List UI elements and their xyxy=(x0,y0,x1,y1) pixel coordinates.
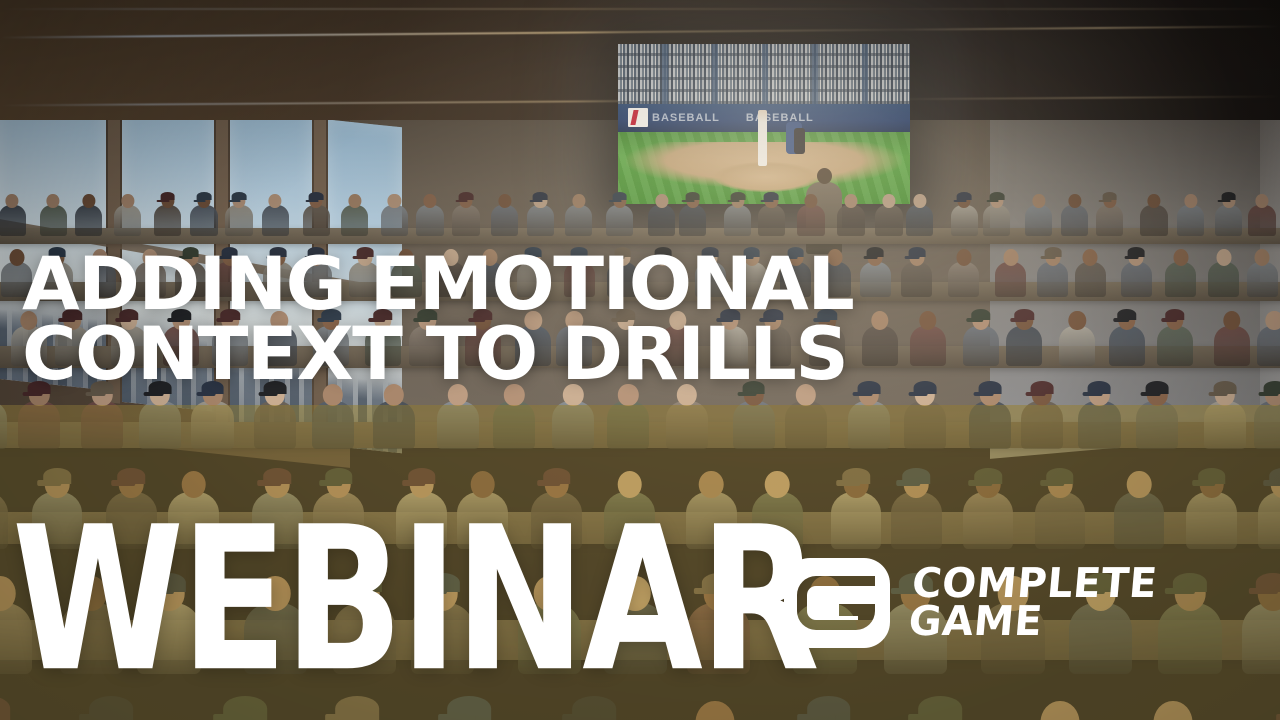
audience-member-head xyxy=(1068,194,1081,209)
baseball-cap xyxy=(612,192,627,200)
audience-member xyxy=(904,401,946,449)
baseball-cap xyxy=(118,468,146,484)
audience-member-head xyxy=(1184,194,1197,209)
baseball-cap xyxy=(264,468,292,484)
audience-member-head xyxy=(388,194,401,209)
audience-member-head xyxy=(1173,249,1188,266)
audience-member xyxy=(416,205,443,236)
audience-member xyxy=(1035,492,1086,549)
audience-member xyxy=(1025,205,1052,236)
audience-member xyxy=(114,205,141,236)
audience-member-head xyxy=(1069,311,1086,330)
audience-member xyxy=(1214,326,1250,367)
audience-member xyxy=(552,401,594,449)
baseball-cap xyxy=(842,468,870,484)
audience-member xyxy=(969,401,1011,449)
audience-member-head xyxy=(269,194,282,209)
audience-member-head xyxy=(82,194,95,209)
baseball-cap xyxy=(459,192,474,200)
headline-line-2: CONTEXT TO DRILLS xyxy=(22,320,1001,390)
audience-member xyxy=(303,205,330,236)
audience-member-head xyxy=(1032,194,1045,209)
audience-member xyxy=(225,205,252,236)
audience-member xyxy=(606,205,633,236)
audience-member xyxy=(1037,262,1068,297)
audience-member xyxy=(312,401,354,449)
baseball-cap xyxy=(730,192,745,200)
baseball-cap xyxy=(1128,247,1145,257)
audience-member xyxy=(381,205,408,236)
baseball-cap xyxy=(1213,381,1236,394)
audience-member-head xyxy=(845,194,858,209)
audience-member-head xyxy=(1216,249,1231,266)
audience-member xyxy=(190,205,217,236)
baseball-cap xyxy=(533,192,548,200)
baseball-cap xyxy=(764,192,779,200)
audience-member xyxy=(0,492,8,549)
audience-member xyxy=(1096,205,1123,236)
baseball-cap xyxy=(685,192,700,200)
audience-member xyxy=(875,205,902,236)
audience-member-head xyxy=(348,194,361,209)
audience-member xyxy=(0,205,26,236)
broadcast-crowd-aisles xyxy=(618,44,910,106)
baseball-cap xyxy=(543,468,571,484)
audience-member xyxy=(0,401,7,449)
audience-member xyxy=(1136,401,1178,449)
audience-member xyxy=(1158,603,1221,674)
audience-member xyxy=(1061,205,1088,236)
audience-member xyxy=(493,401,535,449)
brand-name: COMPLETE GAME xyxy=(907,565,1159,640)
audience-member xyxy=(648,205,675,236)
audience-member-head xyxy=(498,194,511,209)
audience-member xyxy=(1242,603,1280,674)
baseball-cap xyxy=(0,696,10,720)
baseball-cap xyxy=(957,192,972,200)
baseball-cap xyxy=(408,468,436,484)
audience-member xyxy=(40,205,67,236)
audience-member-head xyxy=(1041,701,1080,720)
baseball-cap xyxy=(1117,309,1136,320)
audience-member xyxy=(837,205,864,236)
audience-member xyxy=(1204,401,1246,449)
audience-member xyxy=(963,492,1014,549)
audience-member xyxy=(1208,262,1239,297)
audience-member xyxy=(724,205,751,236)
audience-member-head xyxy=(1255,249,1270,266)
baseball-cap xyxy=(902,468,930,484)
baseball-cap xyxy=(1221,192,1236,200)
audience-member xyxy=(666,401,708,449)
ceiling-light-strip xyxy=(0,8,1280,10)
audience-member xyxy=(831,492,882,549)
audience-member-head xyxy=(1003,249,1018,266)
audience-member-head xyxy=(121,194,134,209)
baseball-cap xyxy=(1165,309,1184,320)
audience-member xyxy=(154,205,181,236)
baseball-cap xyxy=(325,468,353,484)
page-title: ADDING EMOTIONAL CONTEXT TO DRILLS xyxy=(22,250,982,390)
audience-member xyxy=(848,401,890,449)
audience-member xyxy=(373,401,415,449)
audience-member xyxy=(437,401,479,449)
audience-member xyxy=(891,492,942,549)
audience-member xyxy=(254,401,296,449)
audience-member xyxy=(81,401,123,449)
audience-member xyxy=(75,205,102,236)
audience-member xyxy=(452,205,479,236)
wall-signage-right: BASEBALL xyxy=(746,112,814,124)
wall-signage-left: BASEBALL xyxy=(652,112,720,124)
baseball-cap xyxy=(1102,192,1117,200)
baseball-cap xyxy=(309,192,324,200)
audience-member xyxy=(1254,401,1280,449)
baseball-cap xyxy=(1256,573,1280,593)
audience-member-head xyxy=(6,194,19,209)
audience-member-head xyxy=(1153,701,1192,720)
audience-member xyxy=(797,205,824,236)
audience-member xyxy=(18,401,60,449)
audience-member xyxy=(1114,492,1165,549)
baseball-cap xyxy=(1146,381,1169,394)
audience-member xyxy=(1258,492,1280,549)
baseball-cap xyxy=(989,192,1004,200)
audience-member-head xyxy=(47,194,60,209)
audience-member-head xyxy=(1266,311,1280,330)
audience-member xyxy=(906,205,933,236)
audience-member xyxy=(1140,205,1167,236)
audience-member xyxy=(1248,205,1275,236)
audience-member-head xyxy=(913,194,926,209)
audience-member xyxy=(785,401,827,449)
audience-member-head xyxy=(572,194,585,209)
audience-member xyxy=(1215,205,1242,236)
audience-member xyxy=(1121,262,1152,297)
audience-member xyxy=(1157,326,1193,367)
baseball-cap xyxy=(1088,381,1111,394)
audience-member-head xyxy=(1147,194,1160,209)
baseball-cap xyxy=(918,696,962,720)
baseball-cap xyxy=(160,192,175,200)
audience-member-head xyxy=(882,194,895,209)
audience-member xyxy=(679,205,706,236)
audience-member xyxy=(1247,262,1278,297)
audience-member xyxy=(139,401,181,449)
audience-member xyxy=(1059,326,1095,367)
audience-member xyxy=(1177,205,1204,236)
baseball-cap xyxy=(1031,381,1054,394)
audience-member-head xyxy=(423,194,436,209)
baseball-cap xyxy=(1269,468,1280,484)
audience-member xyxy=(1075,262,1106,297)
brand-name-line-2: GAME xyxy=(907,603,1155,641)
audience-member xyxy=(1109,326,1145,367)
baseball-cap xyxy=(1015,309,1034,320)
webinar-title-card: BASEBALL BASEBALL xyxy=(0,0,1280,720)
audience-member xyxy=(1021,401,1063,449)
audience-member xyxy=(1165,262,1196,297)
audience-member xyxy=(341,205,368,236)
audience-member-head xyxy=(1127,471,1152,499)
audience-member xyxy=(733,401,775,449)
audience-member xyxy=(491,205,518,236)
baseball-cap xyxy=(1264,381,1280,394)
baseball-cap xyxy=(1046,468,1074,484)
audience-member xyxy=(951,205,978,236)
audience-member xyxy=(758,205,785,236)
baseball-cap xyxy=(1044,247,1061,257)
audience-member xyxy=(1078,401,1120,449)
league-logo-icon xyxy=(628,108,648,127)
audience-member xyxy=(1186,492,1237,549)
baseball-cap xyxy=(1198,468,1226,484)
ceiling-light-strip xyxy=(0,25,1280,38)
audience-member-head xyxy=(1255,194,1268,209)
audience-member xyxy=(565,205,592,236)
brand-lockup: COMPLETE GAME xyxy=(784,558,1158,648)
audience-member-head xyxy=(804,194,817,209)
baseball-cap xyxy=(231,192,246,200)
audience-member xyxy=(1006,326,1042,367)
category-label: WEBINAR xyxy=(12,500,817,699)
baseball-cap xyxy=(974,468,1002,484)
baseball-cap xyxy=(1173,573,1207,593)
complete-game-g-mark-icon xyxy=(784,558,890,648)
audience-member xyxy=(527,205,554,236)
baseball-cap xyxy=(197,192,212,200)
baseball-cap xyxy=(43,468,71,484)
audience-member xyxy=(1257,326,1280,367)
audience-member xyxy=(191,401,233,449)
audience-member xyxy=(262,205,289,236)
audience-member-head xyxy=(655,194,668,209)
audience-member xyxy=(983,205,1010,236)
audience-member-head xyxy=(1083,249,1098,266)
headline-line-1: ADDING EMOTIONAL xyxy=(22,250,1001,320)
audience-member-head xyxy=(1223,311,1240,330)
audience-member xyxy=(607,401,649,449)
